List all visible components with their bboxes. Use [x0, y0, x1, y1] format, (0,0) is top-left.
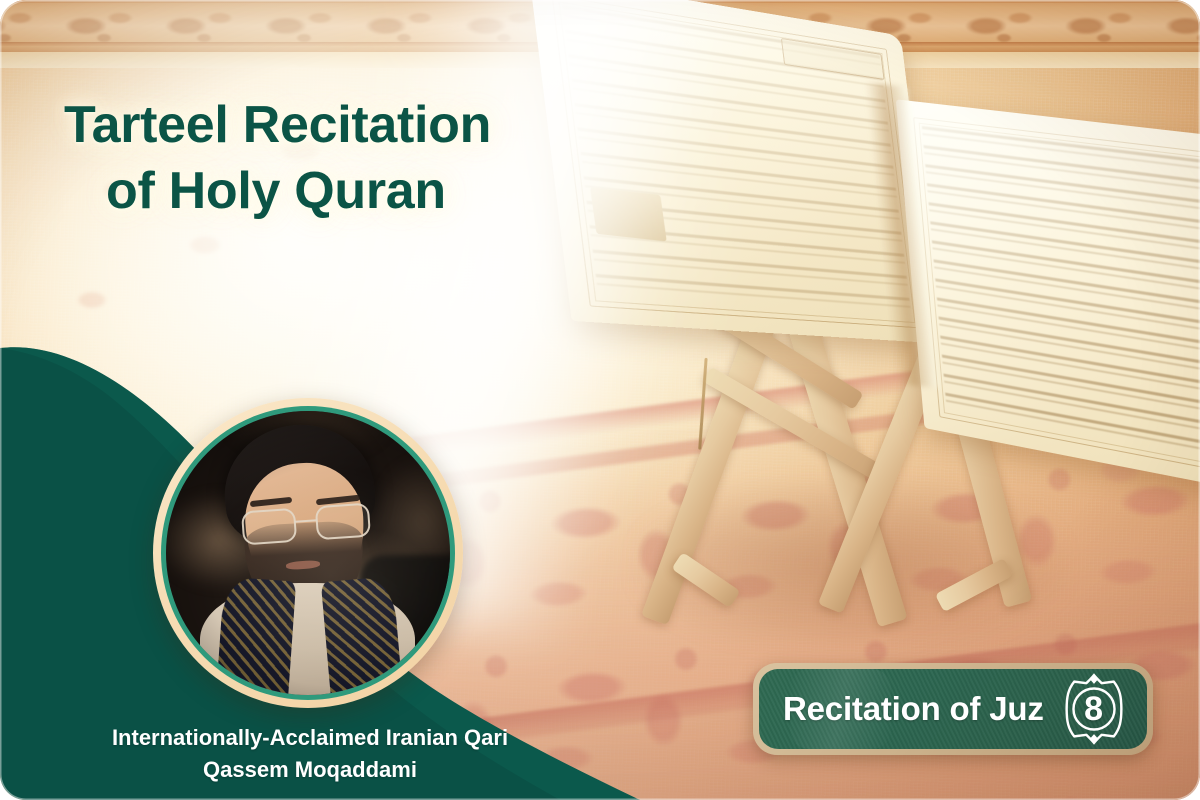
page-title: Tarteel Recitation of Holy Quran	[64, 92, 664, 224]
badge-panel: Recitation of Juz 8	[759, 669, 1147, 749]
badge-label: Recitation of Juz	[783, 690, 1044, 728]
qari-caption-line-2: Qassem Moqaddami	[0, 754, 620, 786]
qari-caption: Internationally-Acclaimed Iranian Qari Q…	[0, 722, 620, 786]
qari-portrait-photo	[166, 411, 450, 695]
poster-card: Tarteel Recitation of Holy Quran Interna…	[0, 0, 1200, 800]
qari-caption-line-1: Internationally-Acclaimed Iranian Qari	[0, 722, 620, 754]
page-title-line-2: of Holy Quran	[64, 158, 664, 224]
avatar-ring	[161, 406, 455, 700]
avatar	[153, 398, 463, 708]
portrait-shading	[166, 411, 450, 695]
octagonal-star-medallion-icon: 8	[1056, 671, 1132, 747]
page-title-line-1: Tarteel Recitation	[64, 96, 491, 154]
juz-number: 8	[1056, 671, 1132, 747]
status-badge[interactable]: Recitation of Juz 8	[753, 663, 1153, 755]
